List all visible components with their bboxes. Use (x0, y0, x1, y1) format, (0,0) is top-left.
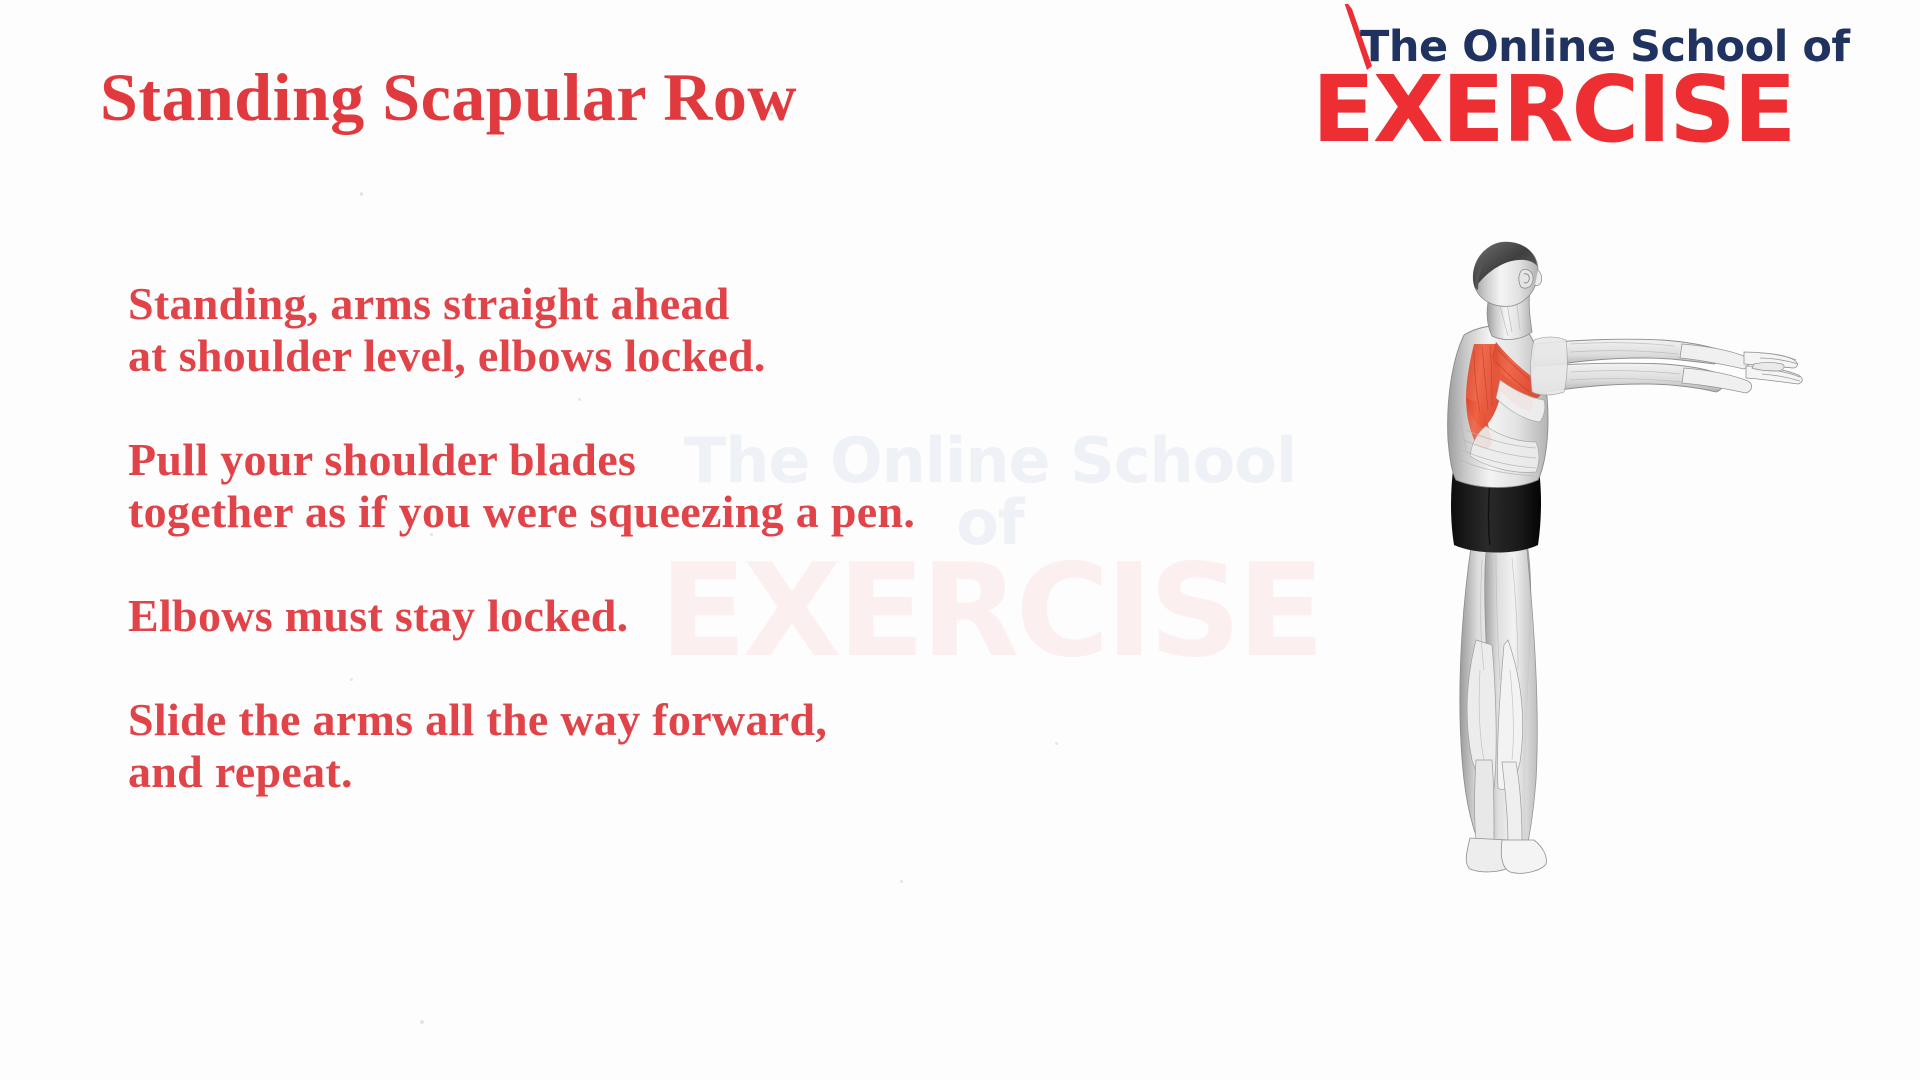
instruction-line: at shoulder level, elbows locked. (128, 330, 766, 381)
anatomy-figure (1430, 240, 1860, 1000)
figure-arms (1531, 337, 1803, 395)
figure-head (1473, 242, 1542, 339)
instruction-line: Pull your shoulder blades (128, 434, 636, 485)
instruction-line: together as if you were squeezing a pen. (128, 486, 915, 537)
page-title: Standing Scapular Row (100, 58, 797, 137)
paper-speck (420, 1020, 424, 1024)
paper-speck (900, 880, 903, 883)
instruction-line: Elbows must stay locked. (128, 590, 629, 641)
instruction-paragraph: Standing, arms straight ahead at shoulde… (128, 278, 1148, 382)
paper-speck (360, 192, 363, 196)
logo-line-bottom: EXERCISE (1312, 64, 1794, 156)
instruction-line: and repeat. (128, 746, 353, 797)
instruction-line: Standing, arms straight ahead (128, 278, 730, 329)
instruction-paragraph: Slide the arms all the way forward, and … (128, 694, 1148, 798)
anatomy-figure-illustration (1430, 240, 1860, 1000)
instruction-paragraph: Pull your shoulder blades together as if… (128, 434, 1148, 538)
figure-legs (1460, 540, 1547, 873)
exercise-slide: The Online School of EXERCISE Standing S… (0, 0, 1920, 1080)
instruction-line: Slide the arms all the way forward, (128, 694, 827, 745)
instruction-list: Standing, arms straight ahead at shoulde… (128, 278, 1148, 798)
figure-hands (1744, 352, 1802, 384)
instruction-paragraph: Elbows must stay locked. (128, 590, 1148, 642)
brand-logo: The Online School of EXERCISE (1312, 4, 1872, 154)
